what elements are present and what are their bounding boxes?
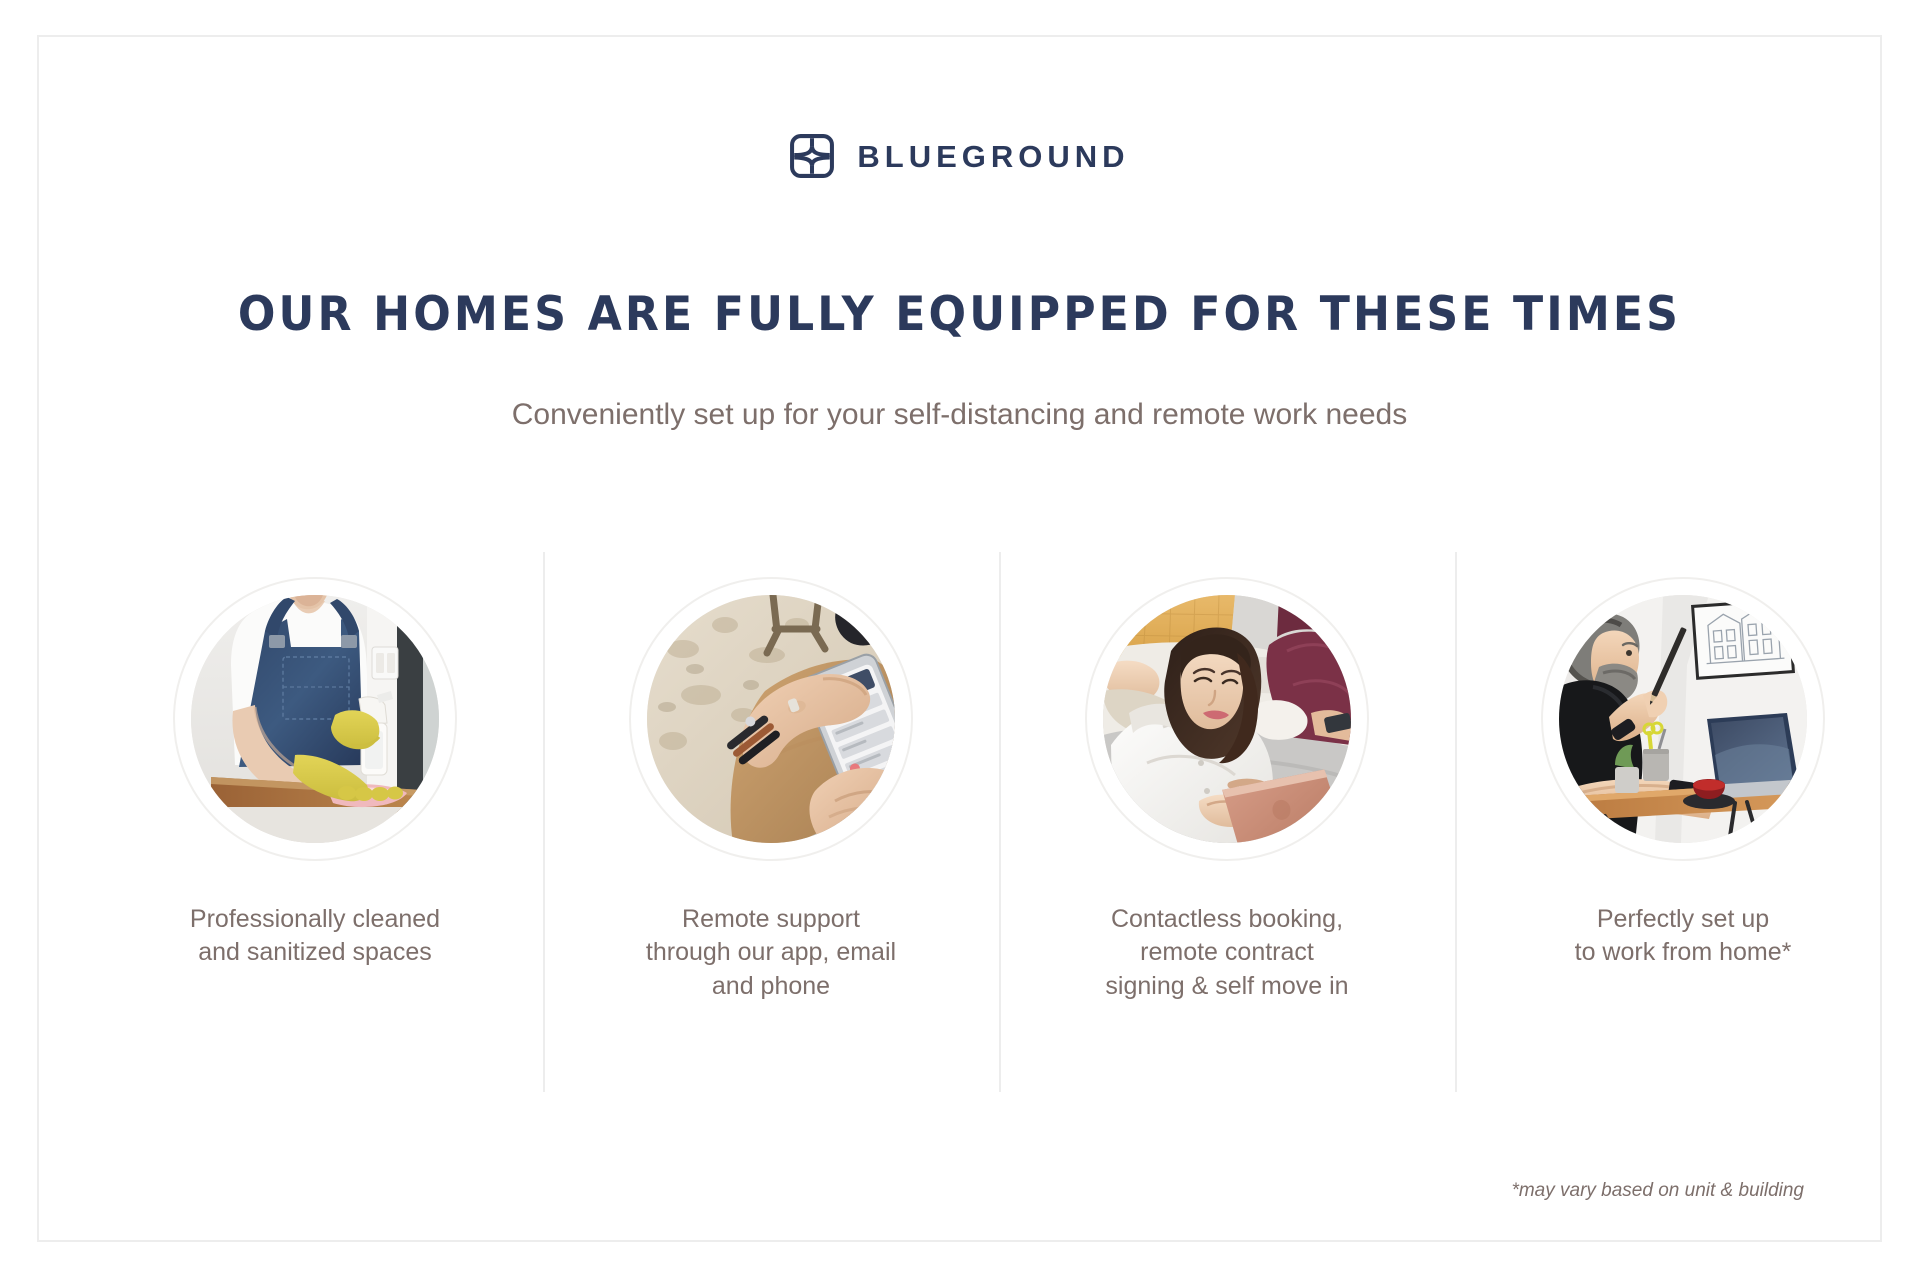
brand-wordmark: BLUEGROUND (857, 141, 1129, 172)
feature-image-ring (1085, 577, 1369, 861)
feature-column-remote-support: Remote support through our app, email an… (543, 552, 999, 1102)
feature-caption: Remote support through our app, email an… (646, 903, 896, 1003)
feature-caption: Contactless booking, remote contract sig… (1105, 903, 1348, 1003)
tablet-booking-photo (1103, 595, 1351, 843)
feature-column-cleaning: Professionally cleaned and sanitized spa… (87, 552, 543, 1102)
work-from-home-photo (1559, 595, 1807, 843)
feature-caption: Professionally cleaned and sanitized spa… (190, 903, 440, 970)
feature-column-contactless-booking: Contactless booking, remote contract sig… (999, 552, 1455, 1102)
poster-frame: BLUEGROUND OUR HOMES ARE FULLY EQUIPPED … (37, 35, 1882, 1242)
phone-support-photo (647, 595, 895, 843)
feature-column-work-from-home: Perfectly set up to work from home* (1455, 552, 1911, 1102)
feature-image-ring (629, 577, 913, 861)
blueground-square-mark-icon (789, 133, 835, 179)
poster-canvas: BLUEGROUND OUR HOMES ARE FULLY EQUIPPED … (0, 0, 1920, 1280)
feature-image-ring (1541, 577, 1825, 861)
footnote-disclaimer: *may vary based on unit & building (1511, 1180, 1804, 1202)
feature-image-ring (173, 577, 457, 861)
feature-columns: Professionally cleaned and sanitized spa… (87, 552, 1911, 1102)
page-subtitle: Conveniently set up for your self-distan… (39, 397, 1880, 433)
feature-caption: Perfectly set up to work from home* (1575, 903, 1792, 970)
cleaning-gloves-photo (191, 595, 439, 843)
page-title: OUR HOMES ARE FULLY EQUIPPED FOR THESE T… (94, 290, 1825, 339)
brand-logo: BLUEGROUND (39, 133, 1880, 179)
